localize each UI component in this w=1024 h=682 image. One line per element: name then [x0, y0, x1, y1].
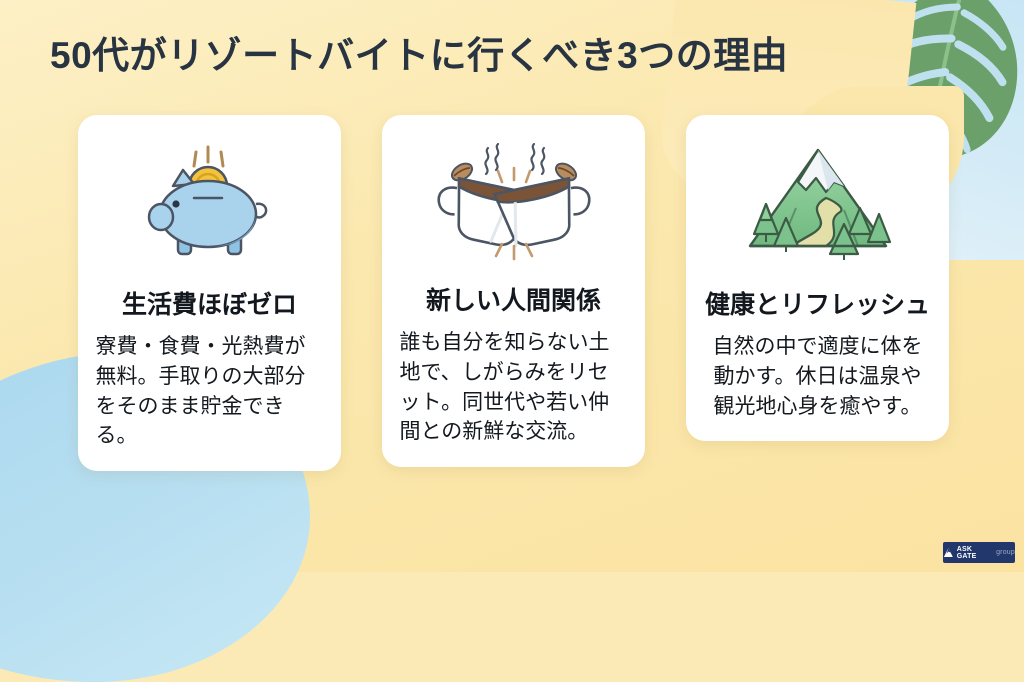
card-body-text: 誰も自分を知らない土地で、しがらみをリセット。同世代や若い仲間との新鮮な交流。: [400, 328, 628, 447]
logo-badge[interactable]: ASK GATE group: [943, 542, 1015, 563]
page-title: 50代がリゾートバイトに行くべき3つの理由: [50, 25, 788, 79]
logo-name: ASK GATE: [957, 546, 993, 560]
card-title: 健康とリフレッシュ: [705, 285, 930, 321]
card-title: 新しい人間関係: [426, 281, 601, 317]
reason-card-list: 生活費ほぼゼロ 寮費・食費・光熱費が無料。手取りの大部分をそのまま貯金できる。: [78, 115, 950, 471]
reason-card[interactable]: 健康とリフレッシュ 自然の中で適度に体を動かす。休日は温泉や観光地心身を癒やす。: [686, 115, 949, 441]
card-body-text: 自然の中で適度に体を動かす。休日は温泉や観光地心身を癒やす。: [704, 332, 932, 421]
reason-card[interactable]: 新しい人間関係 誰も自分を知らない土地で、しがらみをリセット。同世代や若い仲間と…: [382, 115, 645, 467]
reason-card[interactable]: 生活費ほぼゼロ 寮費・食費・光熱費が無料。手取りの大部分をそのまま貯金できる。: [78, 115, 341, 471]
card-body-text: 寮費・食費・光熱費が無料。手取りの大部分をそのまま貯金できる。: [96, 332, 324, 451]
coffee-cups-toast-icon: [434, 140, 594, 262]
card-title: 生活費ほぼゼロ: [122, 285, 297, 321]
logo-suffix: group: [996, 549, 1015, 556]
mountain-triangle-icon: [943, 547, 954, 558]
piggy-bank-icon: [144, 142, 276, 264]
card-icon-wrapper: [740, 137, 896, 269]
mountain-trail-icon: [740, 142, 896, 264]
header: 50代がリゾートバイトに行くべき3つの理由: [0, 0, 1024, 104]
card-icon-wrapper: [434, 137, 594, 265]
card-icon-wrapper: [144, 137, 276, 269]
